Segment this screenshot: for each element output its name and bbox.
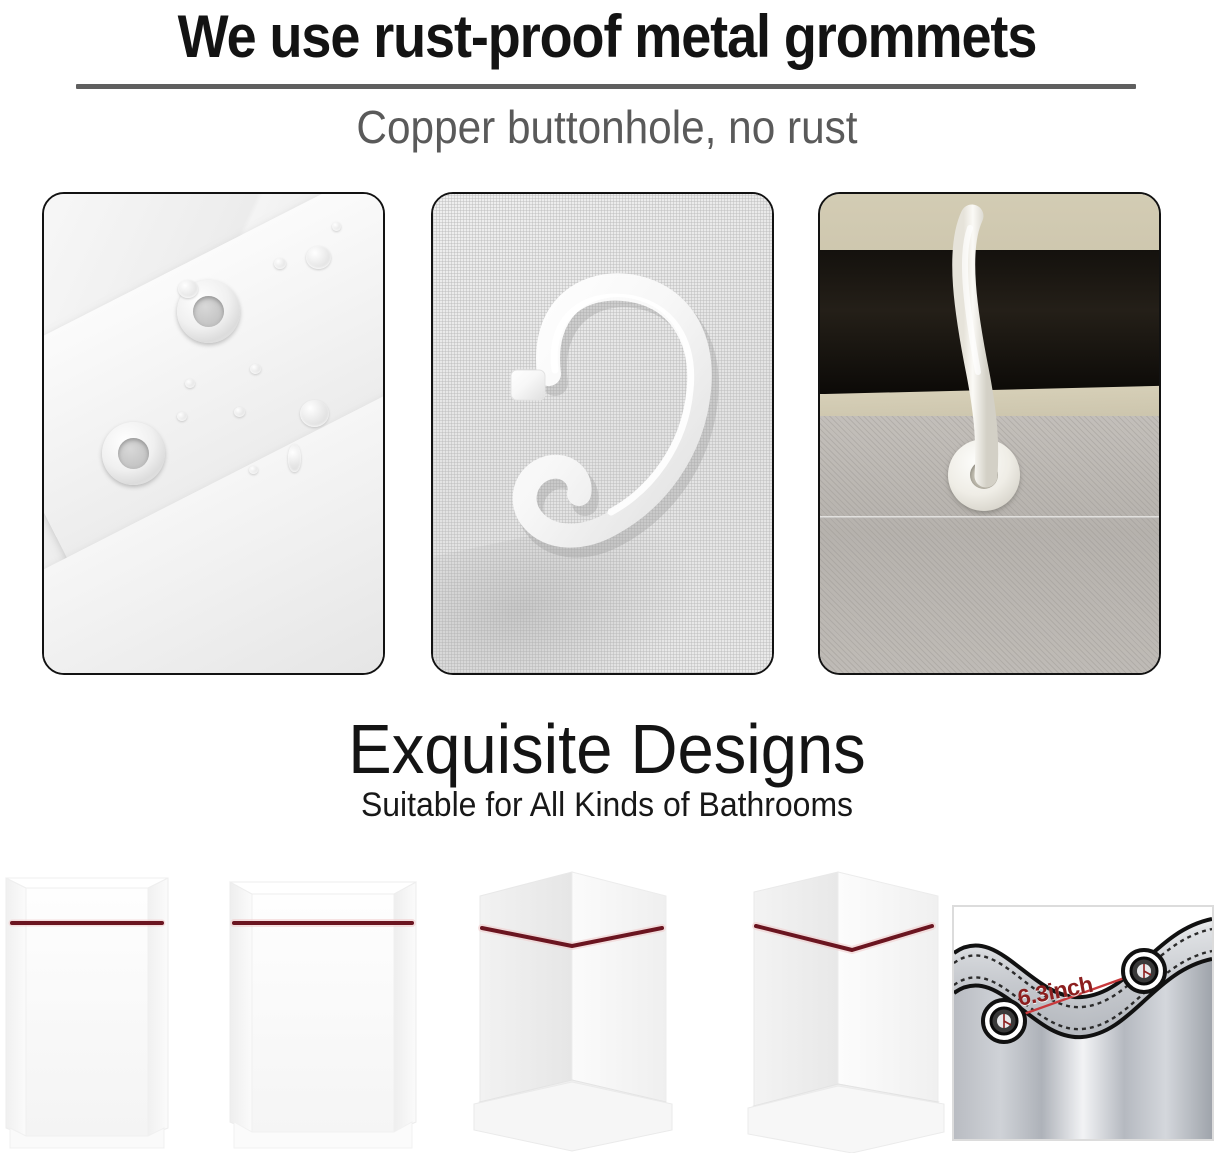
- installed-hook-photo: [820, 194, 1159, 673]
- grommet-spacing-diagram: 6.3inch: [952, 905, 1214, 1141]
- water-droplet: [249, 466, 258, 474]
- water-droplet: [185, 379, 195, 388]
- page-title: We use rust-proof metal grommets: [61, 4, 1154, 70]
- water-droplet: [250, 364, 261, 374]
- photo-panel-hook-on-rod: [818, 192, 1161, 675]
- render-straight-rod-wide-stall: [224, 864, 422, 1152]
- page-subtitle: Copper buttonhole, no rust: [49, 99, 1166, 155]
- header-divider: [76, 84, 1136, 89]
- section-title-exquisite-designs: Exquisite Designs: [42, 709, 1171, 789]
- render-corner-rod-shower-stall: [470, 858, 676, 1153]
- water-droplet: [300, 400, 329, 427]
- render-corner-rod-bathtub-enclosure: [742, 858, 948, 1153]
- render-straight-rod-shower-stall: [2, 866, 174, 1151]
- water-droplet: [332, 222, 341, 231]
- fabric-photo: [44, 194, 383, 673]
- water-droplet: [288, 444, 301, 472]
- hook-photo: [433, 194, 772, 673]
- water-droplet: [306, 246, 331, 269]
- hook-through-grommet-icon: [820, 194, 1159, 673]
- water-droplet: [274, 258, 286, 269]
- water-droplet: [177, 412, 187, 421]
- water-droplet: [178, 280, 198, 298]
- grommet-icon: [1123, 950, 1165, 992]
- section-subtitle-bathrooms: Suitable for All Kinds of Bathrooms: [36, 784, 1177, 826]
- photo-panel-waterproof-fabric: [42, 192, 385, 675]
- water-droplet: [234, 407, 245, 417]
- curtain-hook-icon: [433, 194, 772, 673]
- curtain-header-diagram: [954, 907, 1212, 1139]
- photo-panel-curtain-hook: [431, 192, 774, 675]
- grommet-icon: [102, 422, 165, 485]
